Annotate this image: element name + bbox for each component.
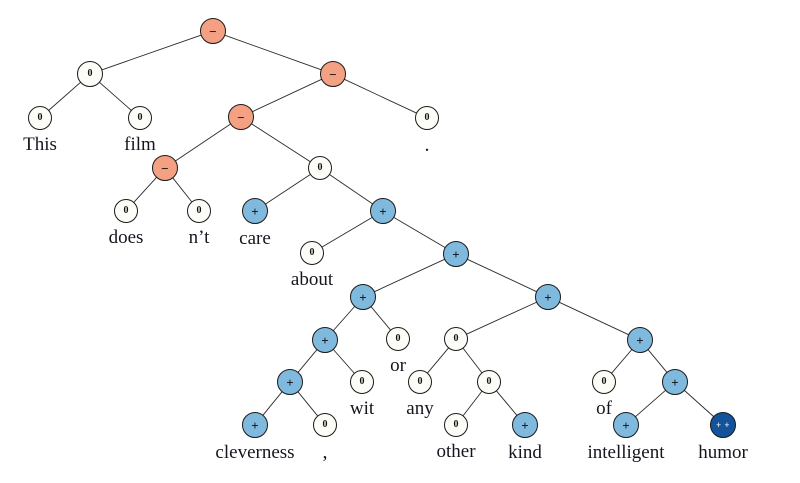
tree-node-positive[interactable]: +	[613, 412, 639, 438]
tree-node-positive[interactable]: +	[443, 241, 469, 267]
tree-edge	[101, 35, 201, 70]
tree-node-neutral[interactable]: 0	[300, 241, 324, 265]
node-sentiment-glyph: −	[329, 68, 336, 81]
leaf-word-label: This	[23, 134, 57, 156]
tree-node-neutral[interactable]: 0	[313, 413, 337, 437]
leaf-word-label: .	[425, 134, 430, 157]
tree-node-neutral[interactable]: 0	[128, 106, 152, 130]
tree-edge	[344, 79, 417, 113]
tree-node-neutral[interactable]: 0	[28, 106, 52, 130]
node-sentiment-glyph: 0	[124, 206, 129, 216]
node-sentiment-glyph: 0	[318, 163, 323, 173]
tree-edge	[251, 124, 311, 163]
node-sentiment-glyph: −	[209, 25, 216, 38]
node-sentiment-glyph: 0	[454, 420, 459, 430]
leaf-word-label: film	[124, 134, 156, 156]
tree-edge	[466, 302, 537, 334]
tree-edge	[427, 347, 449, 373]
tree-edge	[371, 306, 391, 330]
node-sentiment-glyph: 0	[138, 113, 143, 123]
node-sentiment-glyph: +	[321, 334, 328, 347]
node-sentiment-glyph: + +	[716, 421, 730, 430]
node-sentiment-glyph: +	[379, 205, 386, 218]
leaf-word-label: intelligent	[587, 442, 664, 464]
tree-edge	[172, 177, 192, 202]
tree-edge	[224, 35, 321, 70]
tree-node-negative[interactable]: −	[200, 18, 226, 44]
tree-edge	[48, 82, 81, 111]
leaf-word-label: kind	[508, 442, 542, 464]
tree-node-positive[interactable]: +	[242, 198, 268, 224]
tree-edge	[265, 174, 311, 204]
leaf-word-label: of	[596, 398, 612, 420]
tree-edge	[321, 217, 372, 247]
tree-edge	[252, 79, 322, 112]
node-sentiment-glyph: +	[521, 419, 528, 432]
tree-node-neutral[interactable]: 0	[592, 370, 616, 394]
node-sentiment-glyph: +	[671, 376, 678, 389]
node-sentiment-glyph: +	[544, 291, 551, 304]
tree-node-positive[interactable]: +	[350, 284, 376, 310]
tree-node-negative[interactable]: −	[228, 104, 254, 130]
sentiment-parse-tree: −0−00−0−000++0++++00++0000++00+++ + This…	[0, 0, 800, 483]
leaf-word-label: any	[406, 398, 433, 420]
node-sentiment-glyph: 0	[418, 377, 423, 387]
leaf-word-label: ,	[323, 441, 328, 464]
tree-node-neutral[interactable]: 0	[114, 199, 138, 223]
tree-node-negative[interactable]: −	[320, 61, 346, 87]
tree-node-positive[interactable]: +	[312, 327, 338, 353]
node-sentiment-glyph: +	[452, 248, 459, 261]
tree-node-neutral[interactable]: 0	[350, 370, 374, 394]
node-sentiment-glyph: 0	[396, 334, 401, 344]
tree-edge	[393, 217, 445, 248]
tree-node-positive[interactable]: +	[512, 412, 538, 438]
node-sentiment-glyph: +	[622, 419, 629, 432]
node-sentiment-glyph: +	[636, 334, 643, 347]
tree-node-neutral[interactable]: 0	[308, 156, 332, 180]
tree-edge	[298, 391, 318, 416]
tree-node-negative[interactable]: −	[152, 155, 178, 181]
tree-edge	[329, 174, 373, 204]
tree-node-neutral[interactable]: 0	[408, 370, 432, 394]
tree-node-neutral[interactable]: 0	[187, 199, 211, 223]
tree-edge	[133, 177, 157, 203]
tree-edge	[333, 349, 355, 374]
leaf-word-label: or	[390, 355, 406, 377]
tree-node-positive[interactable]: +	[662, 369, 688, 395]
tree-edge	[463, 391, 483, 417]
tree-edge	[648, 349, 668, 373]
node-sentiment-glyph: 0	[38, 113, 43, 123]
tree-edge	[684, 390, 714, 417]
leaf-word-label: care	[239, 228, 271, 250]
tree-node-neutral[interactable]: 0	[444, 327, 468, 351]
tree-node-neutral[interactable]: 0	[415, 106, 439, 130]
tree-edge	[175, 124, 231, 162]
tree-edge	[263, 391, 283, 415]
node-sentiment-glyph: +	[286, 376, 293, 389]
tree-node-neutral[interactable]: 0	[444, 413, 468, 437]
tree-node-positive[interactable]: +	[535, 284, 561, 310]
leaf-word-label: cleverness	[215, 442, 294, 464]
node-sentiment-glyph: 0	[323, 420, 328, 430]
node-sentiment-glyph: −	[237, 111, 244, 124]
leaf-word-label: about	[291, 269, 333, 291]
tree-edge	[635, 390, 666, 417]
leaf-word-label: wit	[350, 398, 374, 420]
tree-node-positive[interactable]: +	[370, 198, 396, 224]
leaf-word-label: does	[109, 227, 144, 249]
tree-edge	[463, 348, 483, 374]
tree-edge	[333, 306, 355, 331]
tree-node-positive[interactable]: +	[242, 412, 268, 438]
node-sentiment-glyph: +	[251, 419, 258, 432]
node-sentiment-glyph: +	[359, 291, 366, 304]
leaf-word-label: n’t	[189, 227, 210, 249]
node-sentiment-glyph: 0	[88, 69, 93, 79]
tree-edge	[611, 349, 632, 374]
node-sentiment-glyph: 0	[602, 377, 607, 387]
tree-node-neutral[interactable]: 0	[477, 370, 501, 394]
tree-edge	[298, 349, 318, 373]
leaf-word-label: other	[436, 441, 475, 463]
tree-node-neutral[interactable]: 0	[77, 61, 103, 87]
node-sentiment-glyph: 0	[360, 377, 365, 387]
node-sentiment-glyph: −	[161, 162, 168, 175]
tree-node-very_positive[interactable]: + +	[710, 412, 736, 438]
tree-node-positive[interactable]: +	[277, 369, 303, 395]
node-sentiment-glyph: 0	[425, 113, 430, 123]
leaf-word-label: humor	[698, 442, 748, 464]
node-sentiment-glyph: +	[251, 205, 258, 218]
node-sentiment-glyph: 0	[310, 248, 315, 258]
tree-edge	[374, 259, 445, 292]
tree-edge	[467, 259, 537, 292]
tree-edge	[496, 390, 517, 415]
node-sentiment-glyph: 0	[197, 206, 202, 216]
node-sentiment-glyph: 0	[454, 334, 459, 344]
tree-node-positive[interactable]: +	[627, 327, 653, 353]
tree-edge	[99, 82, 132, 111]
tree-edge	[559, 302, 629, 335]
node-sentiment-glyph: 0	[487, 377, 492, 387]
tree-node-neutral[interactable]: 0	[386, 327, 410, 351]
